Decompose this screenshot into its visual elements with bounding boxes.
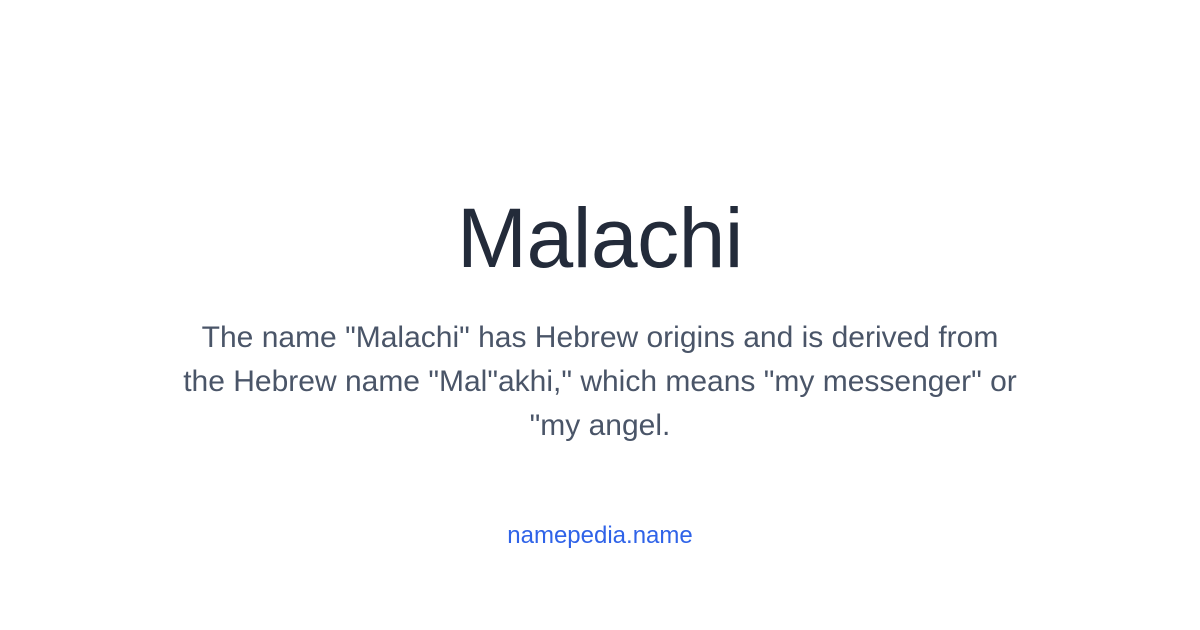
page-title: Malachi — [0, 196, 1200, 280]
name-description: The name "Malachi" has Hebrew origins an… — [180, 316, 1020, 448]
name-meaning-card: Malachi The name "Malachi" has Hebrew or… — [0, 0, 1200, 630]
site-link[interactable]: namepedia.name — [0, 520, 1200, 552]
